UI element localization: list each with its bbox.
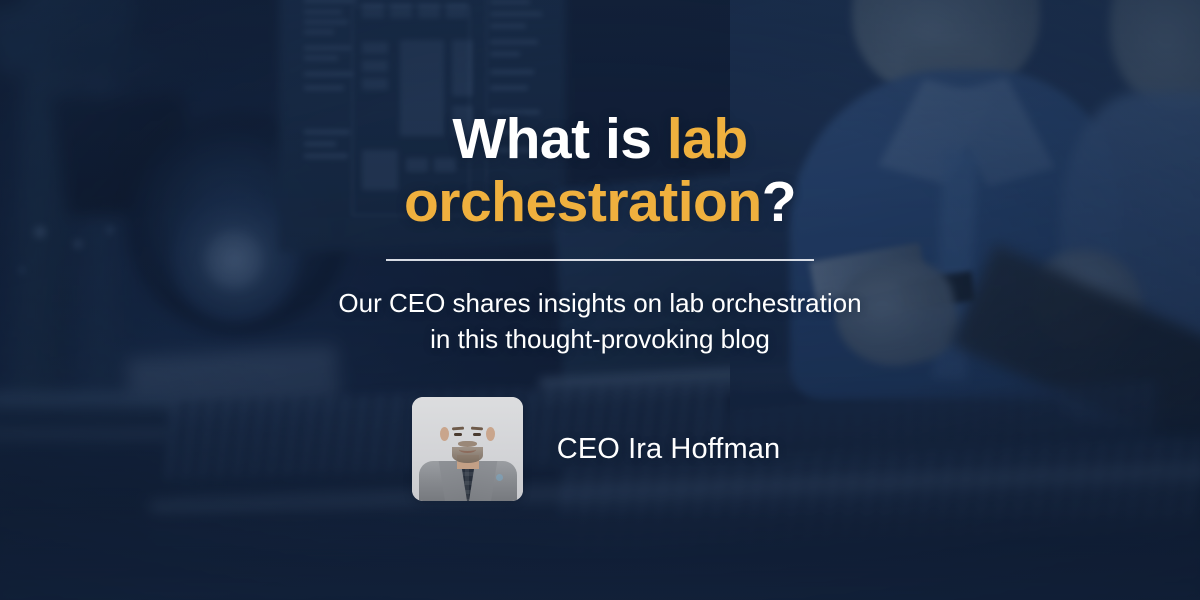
headline-line-1: What is lab — [452, 107, 747, 171]
subtitle-line-1: Our CEO shares insights on lab orchestra… — [338, 288, 861, 318]
subtitle: Our CEO shares insights on lab orchestra… — [240, 285, 960, 358]
avatar — [412, 397, 523, 501]
subtitle-line-2: in this thought-provoking blog — [430, 324, 770, 354]
page-title: What is lab orchestration? — [290, 108, 910, 235]
avatar-ear-left — [440, 427, 449, 441]
banner-content: What is lab orchestration? Our CEO share… — [0, 0, 1200, 600]
horizontal-divider — [386, 259, 814, 261]
headline-word-lab: lab — [667, 107, 748, 171]
byline-name: CEO Ira Hoffman — [557, 433, 780, 466]
headline-line-2: orchestration? — [404, 170, 796, 234]
headline-word-what-is: What is — [452, 107, 667, 171]
avatar-ear-right — [486, 427, 495, 441]
blog-promo-banner: What is lab orchestration? Our CEO share… — [0, 0, 1200, 600]
avatar-eye-left — [454, 433, 462, 436]
avatar-eye-right — [473, 433, 481, 436]
byline: CEO Ira Hoffman — [412, 397, 780, 501]
headline-question-mark: ? — [762, 170, 796, 234]
headline-word-orchestration: orchestration — [404, 170, 762, 234]
